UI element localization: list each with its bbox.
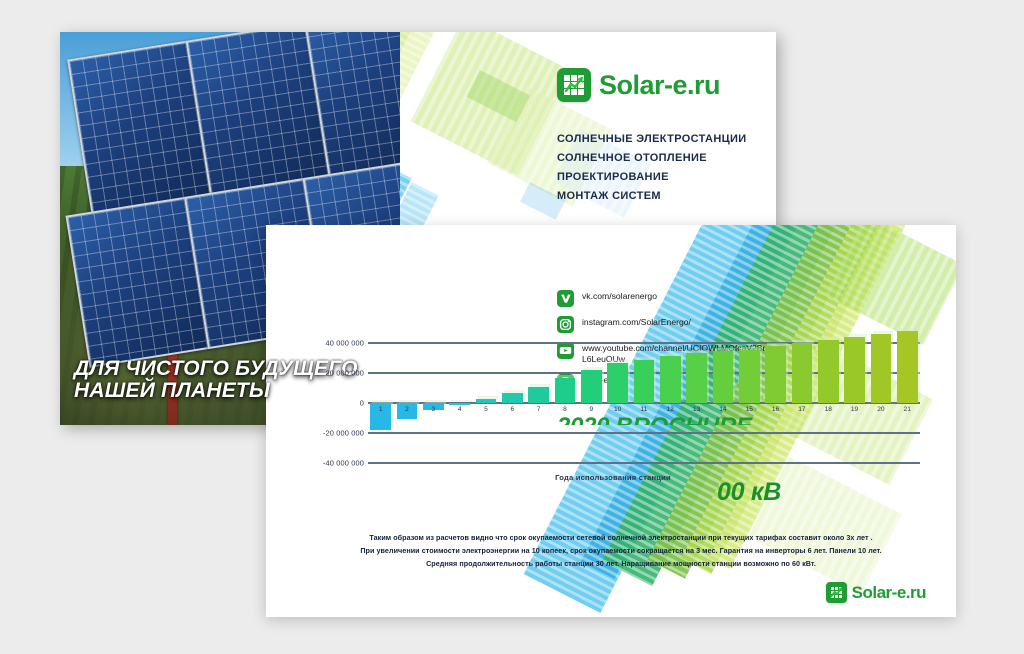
chart-y-tick-label: -20 000 000 [323, 429, 364, 438]
growth-arrow-icon [830, 586, 843, 599]
brand-logo: Solar-e.ru [557, 68, 776, 102]
chart-bar-fill [897, 331, 918, 403]
chart-x-tick-label: 1 [368, 406, 393, 413]
service-item-0: СОЛНЕЧНЫЕ ЭЛЕКТРОСТАНЦИИ [557, 130, 776, 149]
services-list: СОЛНЕЧНЫЕ ЭЛЕКТРОСТАНЦИИ СОЛНЕЧНОЕ ОТОПЛ… [557, 130, 776, 206]
chart-bar: 16 [763, 343, 788, 463]
chart-x-tick-label: 7 [526, 406, 551, 413]
chart-x-tick-label: 6 [500, 406, 525, 413]
chart-bar: 5 [473, 343, 498, 463]
chart-bar-fill [686, 353, 707, 403]
chart-x-tick-label: 14 [710, 406, 735, 413]
chart-bar-fill [476, 399, 497, 404]
chart-bar: 21 [895, 343, 920, 463]
chart-x-tick-label: 11 [631, 406, 656, 413]
chart-x-tick-label: 15 [737, 406, 762, 413]
chart-bar-fill [871, 334, 892, 403]
chart-x-tick-label: 8 [552, 406, 577, 413]
chart-plot-area: 123456789101112131415161718192021 [368, 343, 920, 523]
chart-bar: 18 [816, 343, 841, 463]
brand-wordmark: Solar-e.ru [852, 584, 926, 601]
chart-bar-fill [844, 337, 865, 403]
service-item-2: ПРОЕКТИРОВАНИЕ [557, 168, 776, 187]
chart-bar: 12 [658, 343, 683, 463]
chart-bar-shadow [451, 400, 472, 402]
chart-x-tick-label: 9 [579, 406, 604, 413]
chart-bar: 2 [394, 343, 419, 463]
instagram-icon [557, 316, 574, 333]
chart-bar-fill [660, 356, 681, 403]
chart-bar-fill [581, 370, 602, 403]
brand-wordmark: Solar-e.ru [599, 72, 720, 99]
chart-bar: 13 [684, 343, 709, 463]
solar-logo-icon [557, 68, 591, 102]
chart-bar-fill [765, 346, 786, 403]
chart-y-tick-label: -40 000 000 [323, 459, 364, 468]
chart-x-tick-label: 5 [473, 406, 498, 413]
chart-bar-fill [555, 378, 576, 404]
chart-y-tick-label: 0 [360, 399, 364, 408]
chart-x-tick-label: 17 [789, 406, 814, 413]
chart-bar-fill [713, 351, 734, 403]
chart-bars: 123456789101112131415161718192021 [368, 343, 920, 463]
chart-bar: 3 [421, 343, 446, 463]
chart-bar-fill [528, 387, 549, 404]
chart-bar-fill [634, 360, 655, 404]
chart-x-axis-title: Года использования станции [306, 473, 920, 482]
vk-icon [557, 290, 574, 307]
social-link-instagram[interactable]: instagram.com/SolarEnergo/ [557, 316, 776, 333]
back-page-body-text: Таким образом из расчетов видно что срок… [310, 531, 932, 570]
chart-bar-fill [607, 363, 628, 404]
chart-x-tick-label: 13 [684, 406, 709, 413]
chart-bar-fill [449, 403, 470, 405]
chart-bar: 8 [552, 343, 577, 463]
chart-x-tick-label: 3 [421, 406, 446, 413]
service-item-3: МОНТАЖ СИСТЕМ [557, 187, 776, 206]
chart-y-axis: 40 000 00020 000 0000-20 000 000-40 000 … [306, 343, 368, 523]
service-item-1: СОЛНЕЧНОЕ ОТОПЛЕНИЕ [557, 149, 776, 168]
chart-x-tick-label: 12 [658, 406, 683, 413]
chart-x-tick-label: 19 [842, 406, 867, 413]
chart-bar: 6 [500, 343, 525, 463]
social-link-label: vk.com/solarenergo [582, 290, 657, 302]
chart-y-tick-label: 20 000 000 [326, 369, 365, 378]
chart-bar: 19 [842, 343, 867, 463]
chart-bar-fill [792, 343, 813, 403]
chart-bar-fill [502, 393, 523, 404]
body-line-1: При увеличении стоимости электроэнергии … [310, 544, 932, 557]
chart-x-tick-label: 18 [816, 406, 841, 413]
chart-x-tick-label: 16 [763, 406, 788, 413]
chart-bar: 1 [368, 343, 393, 463]
chart-bar: 7 [526, 343, 551, 463]
social-link-vk[interactable]: vk.com/solarenergo [557, 290, 776, 307]
chart-x-tick-label: 2 [394, 406, 419, 413]
growth-arrow-icon [564, 75, 584, 95]
chart-bar: 20 [868, 343, 893, 463]
chart-bar: 10 [605, 343, 630, 463]
body-line-0: Таким образом из расчетов видно что срок… [310, 531, 932, 544]
chart-x-tick-label: 21 [895, 406, 920, 413]
chart-bar: 14 [710, 343, 735, 463]
back-page-brand-logo: Solar-e.ru [826, 582, 926, 603]
chart-bar: 9 [579, 343, 604, 463]
chart-x-tick-label: 20 [868, 406, 893, 413]
chart-bar: 15 [737, 343, 762, 463]
chart-x-tick-label: 4 [447, 406, 472, 413]
social-link-label: instagram.com/SolarEnergo/ [582, 316, 691, 328]
payback-bar-chart: 40 000 00020 000 0000-20 000 000-40 000 … [306, 343, 920, 523]
chart-x-tick-label: 10 [605, 406, 630, 413]
solar-logo-icon [826, 582, 847, 603]
body-line-2: Средняя продолжительность работы станции… [310, 557, 932, 570]
chart-bar: 11 [631, 343, 656, 463]
chart-bar-fill [818, 340, 839, 403]
chart-bar: 17 [789, 343, 814, 463]
chart-bar-fill [739, 350, 760, 403]
chart-bar: 4 [447, 343, 472, 463]
chart-y-tick-label: 40 000 000 [326, 339, 365, 348]
